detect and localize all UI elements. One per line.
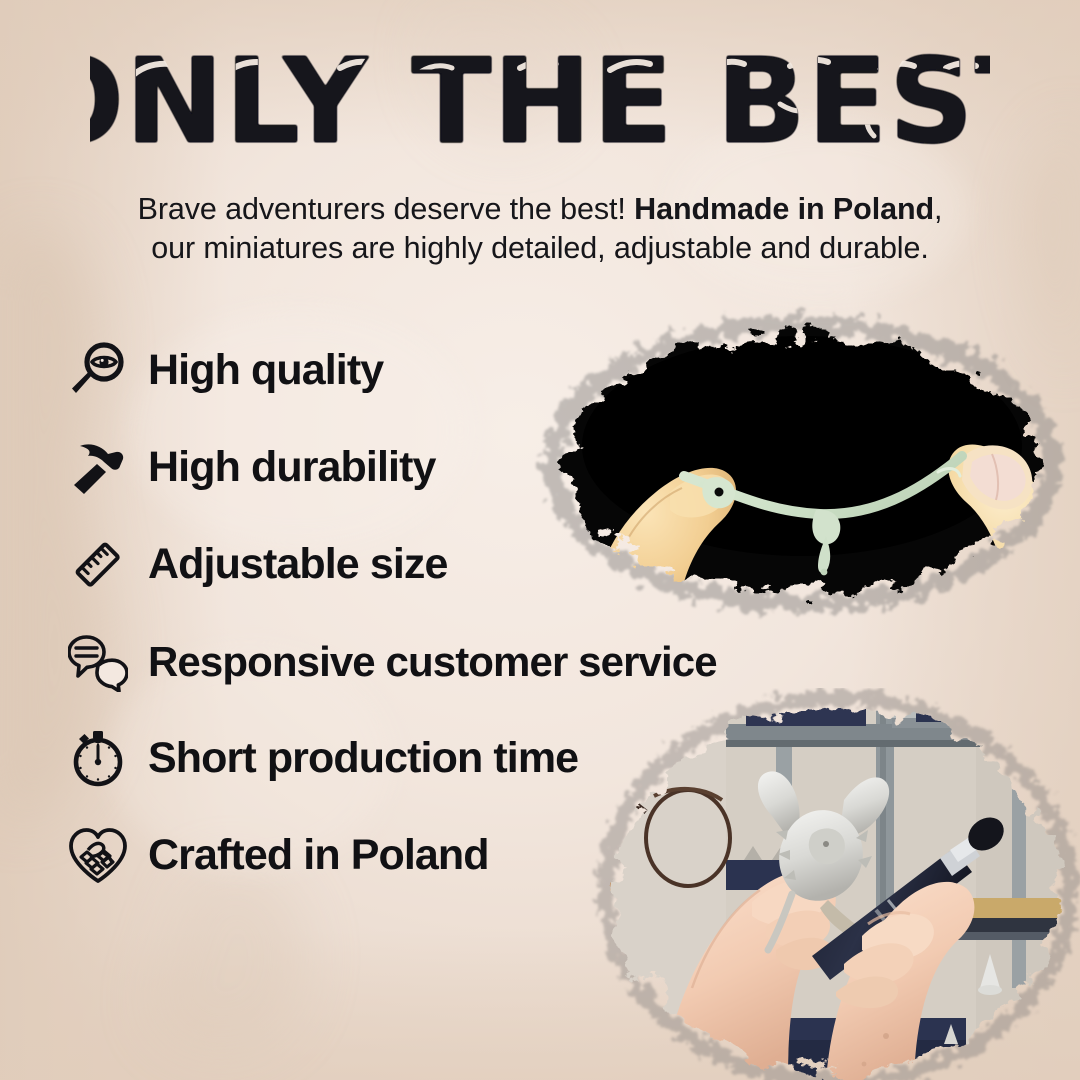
feature-label-crafted-in-poland: Crafted in Poland (148, 834, 489, 877)
feature-label-adjustable-size: Adjustable size (148, 543, 448, 586)
feature-label-customer-service: Responsive customer service (148, 641, 717, 683)
feature-label-high-quality: High quality (148, 349, 383, 392)
hammer-icon (62, 432, 134, 504)
feature-label-high-durability: High durability (148, 446, 436, 489)
feature-item-high-durability[interactable]: High durability (62, 419, 802, 516)
feature-label-production-time: Short production time (148, 737, 578, 780)
subtitle-line-2: our miniatures are highly detailed, adju… (60, 229, 1020, 268)
feature-item-crafted-in-poland[interactable]: Crafted in Poland (62, 807, 802, 904)
feature-item-adjustable-size[interactable]: Adjustable size (62, 516, 802, 613)
feature-item-high-quality[interactable]: High quality (62, 322, 802, 419)
page-title: ONLY THE BEST ONLY THE BEST (0, 38, 1080, 173)
feature-item-production-time[interactable]: Short production time (62, 710, 802, 807)
handshake-heart-icon (62, 820, 134, 892)
subtitle-line-1: Brave adventurers deserve the best! Hand… (60, 190, 1020, 229)
subtitle-bold: Handmade in Poland (634, 192, 934, 226)
feature-item-customer-service[interactable]: Responsive customer service (62, 613, 802, 710)
subtitle: Brave adventurers deserve the best! Hand… (60, 190, 1020, 268)
speech-bubbles-icon (62, 626, 134, 698)
title-glyphs: ONLY THE BEST (90, 38, 990, 168)
ruler-icon (62, 529, 134, 601)
subtitle-tail: , (934, 192, 942, 226)
magnifier-eye-icon (62, 335, 134, 407)
page-title-text: ONLY THE BEST ONLY THE BEST (90, 38, 990, 168)
feature-list: High quality High durability (62, 322, 802, 904)
subtitle-lead: Brave adventurers deserve the best! (138, 192, 635, 226)
stopwatch-icon (62, 723, 134, 795)
